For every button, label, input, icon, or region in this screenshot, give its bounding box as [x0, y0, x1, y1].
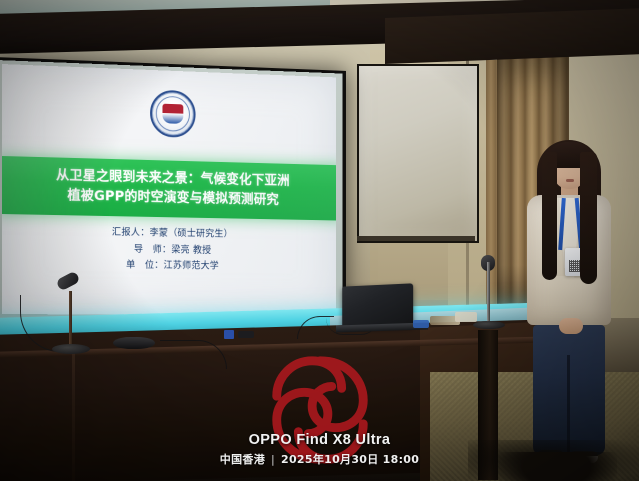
desk-dongle — [238, 331, 254, 338]
microphone-right-stand — [487, 262, 490, 326]
presenter-hands — [559, 318, 583, 334]
slide-meta-block: 汇报人：李蒙（硕士研究生） 导 师：梁亮 教授 单 位：江苏师范大学 — [2, 224, 336, 276]
desk-item-white — [455, 312, 477, 322]
presenter — [515, 140, 625, 481]
presenter-hair-left — [542, 152, 557, 280]
microphone-stand — [69, 291, 72, 348]
podium-seam — [72, 352, 75, 481]
desk-device-puck — [113, 337, 155, 349]
university-emblem-icon — [150, 90, 196, 138]
desk-item-blue — [413, 320, 429, 328]
laptop-screen — [342, 283, 413, 328]
slide-meta-advisor: 导 师：梁亮 教授 — [134, 243, 211, 259]
ceiling-beam-right — [385, 8, 639, 64]
microphone-base — [52, 344, 90, 354]
whiteboard-panel — [357, 64, 479, 243]
blue-adapter — [224, 330, 234, 339]
projected-slide: 从卫星之眼到未来之景：气候变化下亚洲 植被GPP的时空演变与模拟预测研究 汇报人… — [2, 64, 336, 316]
microphone-right-base — [473, 321, 505, 329]
slide-meta-affiliation: 单 位：江苏师范大学 — [126, 259, 219, 275]
whiteboard-tray — [357, 236, 475, 241]
conference-photo: 从卫星之眼到未来之景：气候变化下亚洲 植被GPP的时空演变与模拟预测研究 汇报人… — [0, 0, 639, 481]
presenter-mouth — [566, 179, 574, 182]
presenter-hair-right — [580, 152, 597, 284]
slide-meta-presenter: 汇报人：李蒙（硕士研究生） — [112, 226, 233, 242]
foreground-silhouette — [497, 452, 617, 481]
slide-title-band: 从卫星之眼到未来之景：气候变化下亚洲 植被GPP的时空演变与模拟预测研究 — [2, 156, 336, 221]
